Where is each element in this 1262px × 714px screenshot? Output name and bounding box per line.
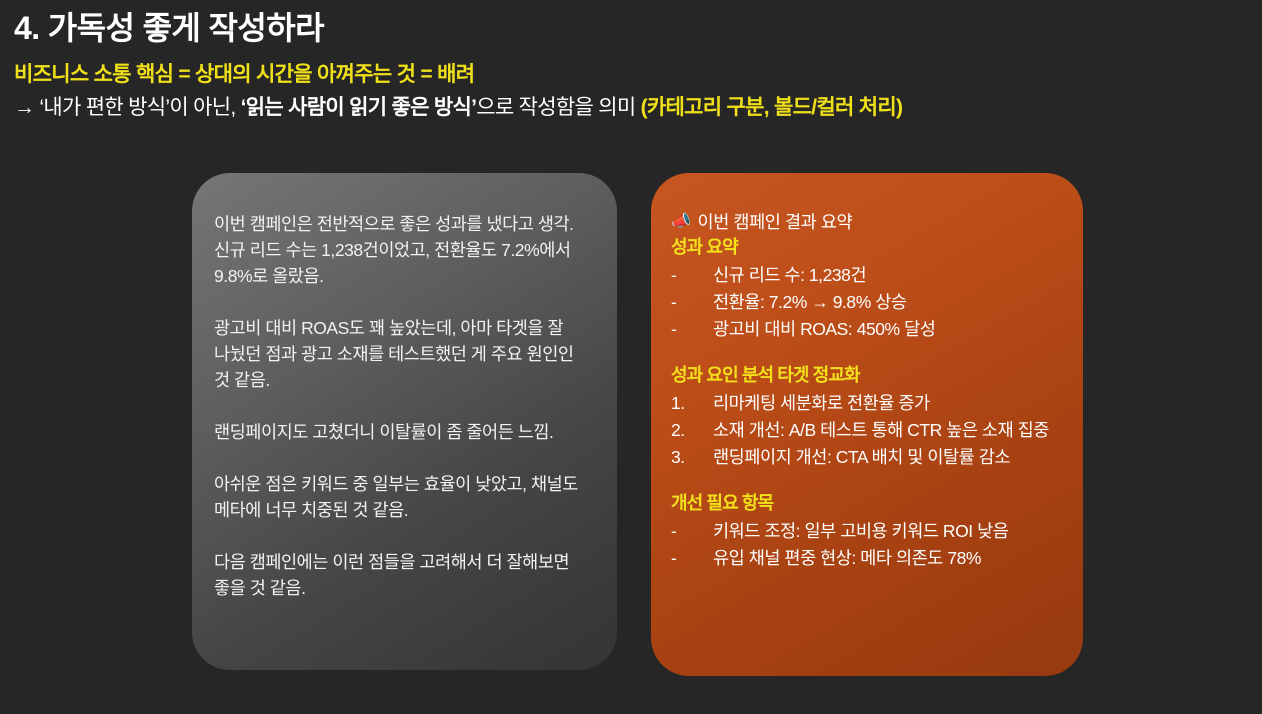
list-item: -키워드 조정: 일부 고비용 키워드 ROI 낮음 xyxy=(671,518,1067,545)
subtitle-primary: 비즈니스 소통 핵심 = 상대의 시간을 아껴주는 것 = 배려 xyxy=(14,60,1254,89)
subtitle-secondary: → ‘내가 편한 방식’이 아닌, ‘읽는 사람이 읽기 좋은 방식’으로 작성… xyxy=(14,93,1254,122)
list-item: 1.리마케팅 세분화로 전환율 증가 xyxy=(671,390,1067,417)
list-item-marker: 2. xyxy=(671,417,713,444)
memo-paragraph: 광고비 대비 ROAS도 꽤 높았는데, 아마 타겟을 잘 나눴던 점과 광고 … xyxy=(214,315,589,393)
section-heading: 성과 요인 분석 타겟 정교화 xyxy=(671,363,1067,388)
summary-section: 성과 요인 분석 타겟 정교화1.리마케팅 세분화로 전환율 증가2.소재 개선… xyxy=(671,363,1067,471)
list-item-marker: - xyxy=(671,289,713,316)
memo-paragraph: 이번 캠페인은 전반적으로 좋은 성과를 냈다고 생각. 신규 리드 수는 1,… xyxy=(214,211,589,289)
list-item-label: 리마케팅 세분화로 전환율 증가 xyxy=(713,390,1067,417)
section-heading: 성과 요약 xyxy=(671,235,1067,260)
summary-title-label: 이번 캠페인 결과 요약 xyxy=(698,210,853,234)
page-title: 4. 가독성 좋게 작성하라 xyxy=(14,8,1254,48)
summary-section: 성과 요약-신규 리드 수: 1,238건-전환율: 7.2% → 9.8% 상… xyxy=(671,235,1067,343)
list-item-label: 전환율: 7.2% → 9.8% 상승 xyxy=(713,289,1067,316)
subtitle-segment-3: (카테고리 구분, 볼드/컬러 처리) xyxy=(641,96,903,119)
memo-paragraph: 다음 캠페인에는 이런 점들을 고려해서 더 잘해보면 좋을 것 같음. xyxy=(214,549,589,601)
list-item-label: 신규 리드 수: 1,238건 xyxy=(713,262,1067,289)
list-item: 2.소재 개선: A/B 테스트 통해 CTR 높은 소재 집중 xyxy=(671,417,1067,444)
list-item: -광고비 대비 ROAS: 450% 달성 xyxy=(671,316,1067,343)
subtitle-segment-2: 으로 작성함을 의미 xyxy=(476,96,640,119)
list-item: -유입 채널 편중 현상: 메타 의존도 78% xyxy=(671,545,1067,572)
summary-section: 개선 필요 항목-키워드 조정: 일부 고비용 키워드 ROI 낮음-유입 채널… xyxy=(671,491,1067,572)
list-item: -전환율: 7.2% → 9.8% 상승 xyxy=(671,289,1067,316)
list-item-marker: - xyxy=(671,262,713,289)
list-item-label: 유입 채널 편중 현상: 메타 의존도 78% xyxy=(713,545,1067,572)
list-item-marker: - xyxy=(671,518,713,545)
list-item-marker: 1. xyxy=(671,390,713,417)
slide-header: 4. 가독성 좋게 작성하라 비즈니스 소통 핵심 = 상대의 시간을 아껴주는… xyxy=(14,8,1254,123)
memo-paragraph: 아쉬운 점은 키워드 중 일부는 효율이 낮았고, 채널도 메타에 너무 치중된… xyxy=(214,471,589,523)
megaphone-icon: 📣 xyxy=(671,214,691,230)
summary-title-row: 📣 이번 캠페인 결과 요약 xyxy=(671,210,1067,234)
subtitle-segment-1: ‘읽는 사람이 읽기 좋은 방식’ xyxy=(241,96,477,119)
memo-paragraph: 랜딩페이지도 고쳤더니 이탈률이 좀 줄어든 느낌. xyxy=(214,419,589,445)
list-item-marker: - xyxy=(671,316,713,343)
list-item-label: 랜딩페이지 개선: CTA 배치 및 이탈률 감소 xyxy=(713,444,1067,471)
list-item-marker: - xyxy=(671,545,713,572)
list-item-label: 광고비 대비 ROAS: 450% 달성 xyxy=(713,316,1067,343)
list-item-label: 키워드 조정: 일부 고비용 키워드 ROI 낮음 xyxy=(713,518,1067,545)
bad-example-card: 이번 캠페인은 전반적으로 좋은 성과를 냈다고 생각. 신규 리드 수는 1,… xyxy=(192,173,617,670)
list-item-marker: 3. xyxy=(671,444,713,471)
list-item-label: 소재 개선: A/B 테스트 통해 CTR 높은 소재 집중 xyxy=(713,417,1067,444)
list-item: 3.랜딩페이지 개선: CTA 배치 및 이탈률 감소 xyxy=(671,444,1067,471)
list-item: -신규 리드 수: 1,238건 xyxy=(671,262,1067,289)
subtitle-segment-0: → ‘내가 편한 방식’이 아닌, xyxy=(14,96,241,119)
good-example-card: 📣 이번 캠페인 결과 요약 성과 요약-신규 리드 수: 1,238건-전환율… xyxy=(651,173,1083,676)
section-heading: 개선 필요 항목 xyxy=(671,491,1067,516)
summary-sections: 성과 요약-신규 리드 수: 1,238건-전환율: 7.2% → 9.8% 상… xyxy=(671,235,1067,572)
